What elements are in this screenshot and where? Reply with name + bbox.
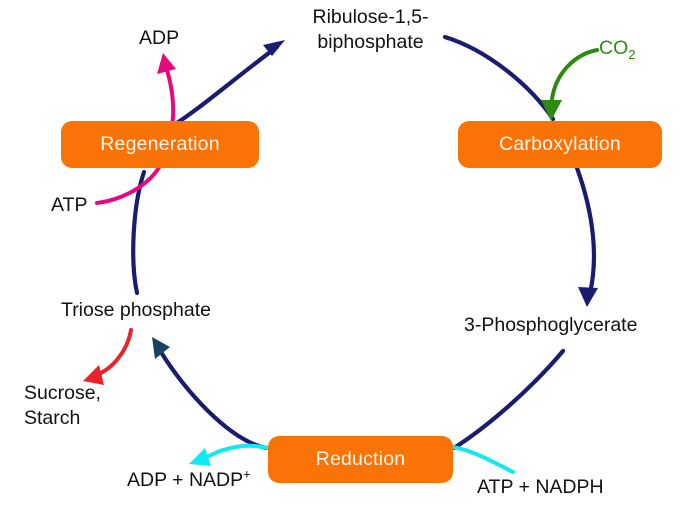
arrow-carboxylation-to-3pga — [577, 168, 598, 307]
arrow-reduction-to-adp-nadp — [189, 446, 268, 466]
node-reduction-label: Reduction — [316, 448, 406, 471]
arrow-reduction-to-triose — [152, 337, 266, 448]
label-nadp-plus-superscript: + — [243, 467, 251, 482]
label-starch: Starch — [24, 407, 80, 429]
label-triose-phosphate: Triose phosphate — [61, 298, 211, 323]
arrow-triose-to-sucrose-starch — [83, 330, 131, 385]
label-adp-nadp-text: ADP + NADP — [127, 469, 243, 491]
label-adp-nadp-plus: ADP + NADP+ — [127, 468, 251, 493]
label-atp: ATP — [51, 193, 87, 218]
label-adp: ADP — [139, 26, 179, 51]
label-ribulose-bisphosphate: Ribulose-1,5- biphosphate — [293, 5, 448, 55]
node-regeneration-label: Regeneration — [100, 133, 220, 156]
node-reduction[interactable]: Reduction — [268, 436, 453, 483]
label-3-phosphoglycerate: 3-Phosphoglycerate — [464, 313, 637, 338]
node-regeneration[interactable]: Regeneration — [61, 121, 259, 168]
arrow-3pga-to-reduction — [454, 351, 563, 448]
arrow-regeneration-to-rubp — [172, 40, 285, 126]
label-rubp-line2: biphosphate — [317, 31, 423, 53]
arrow-rubp-to-carboxylation — [445, 37, 553, 119]
label-co2-subscript: 2 — [628, 47, 635, 62]
arrow-atp-into-regeneration — [97, 166, 160, 203]
calvin-cycle-diagram: Regeneration Carboxylation Reduction Rib… — [0, 0, 682, 519]
node-carboxylation-label: Carboxylation — [499, 133, 621, 156]
node-carboxylation[interactable]: Carboxylation — [458, 121, 662, 168]
label-co2-text: CO — [599, 37, 628, 59]
label-sucrose: Sucrose, — [24, 382, 101, 404]
arrow-co2-into-carboxylation — [541, 50, 597, 121]
arrow-atp-nadph-into-reduction — [452, 447, 513, 472]
label-sucrose-starch: Sucrose, Starch — [24, 381, 101, 431]
label-co2: CO2 — [599, 36, 636, 67]
label-rubp-line1: Ribulose-1,5- — [313, 6, 429, 28]
label-atp-nadph: ATP + NADPH — [477, 475, 604, 500]
arrow-regeneration-to-adp — [157, 53, 176, 125]
